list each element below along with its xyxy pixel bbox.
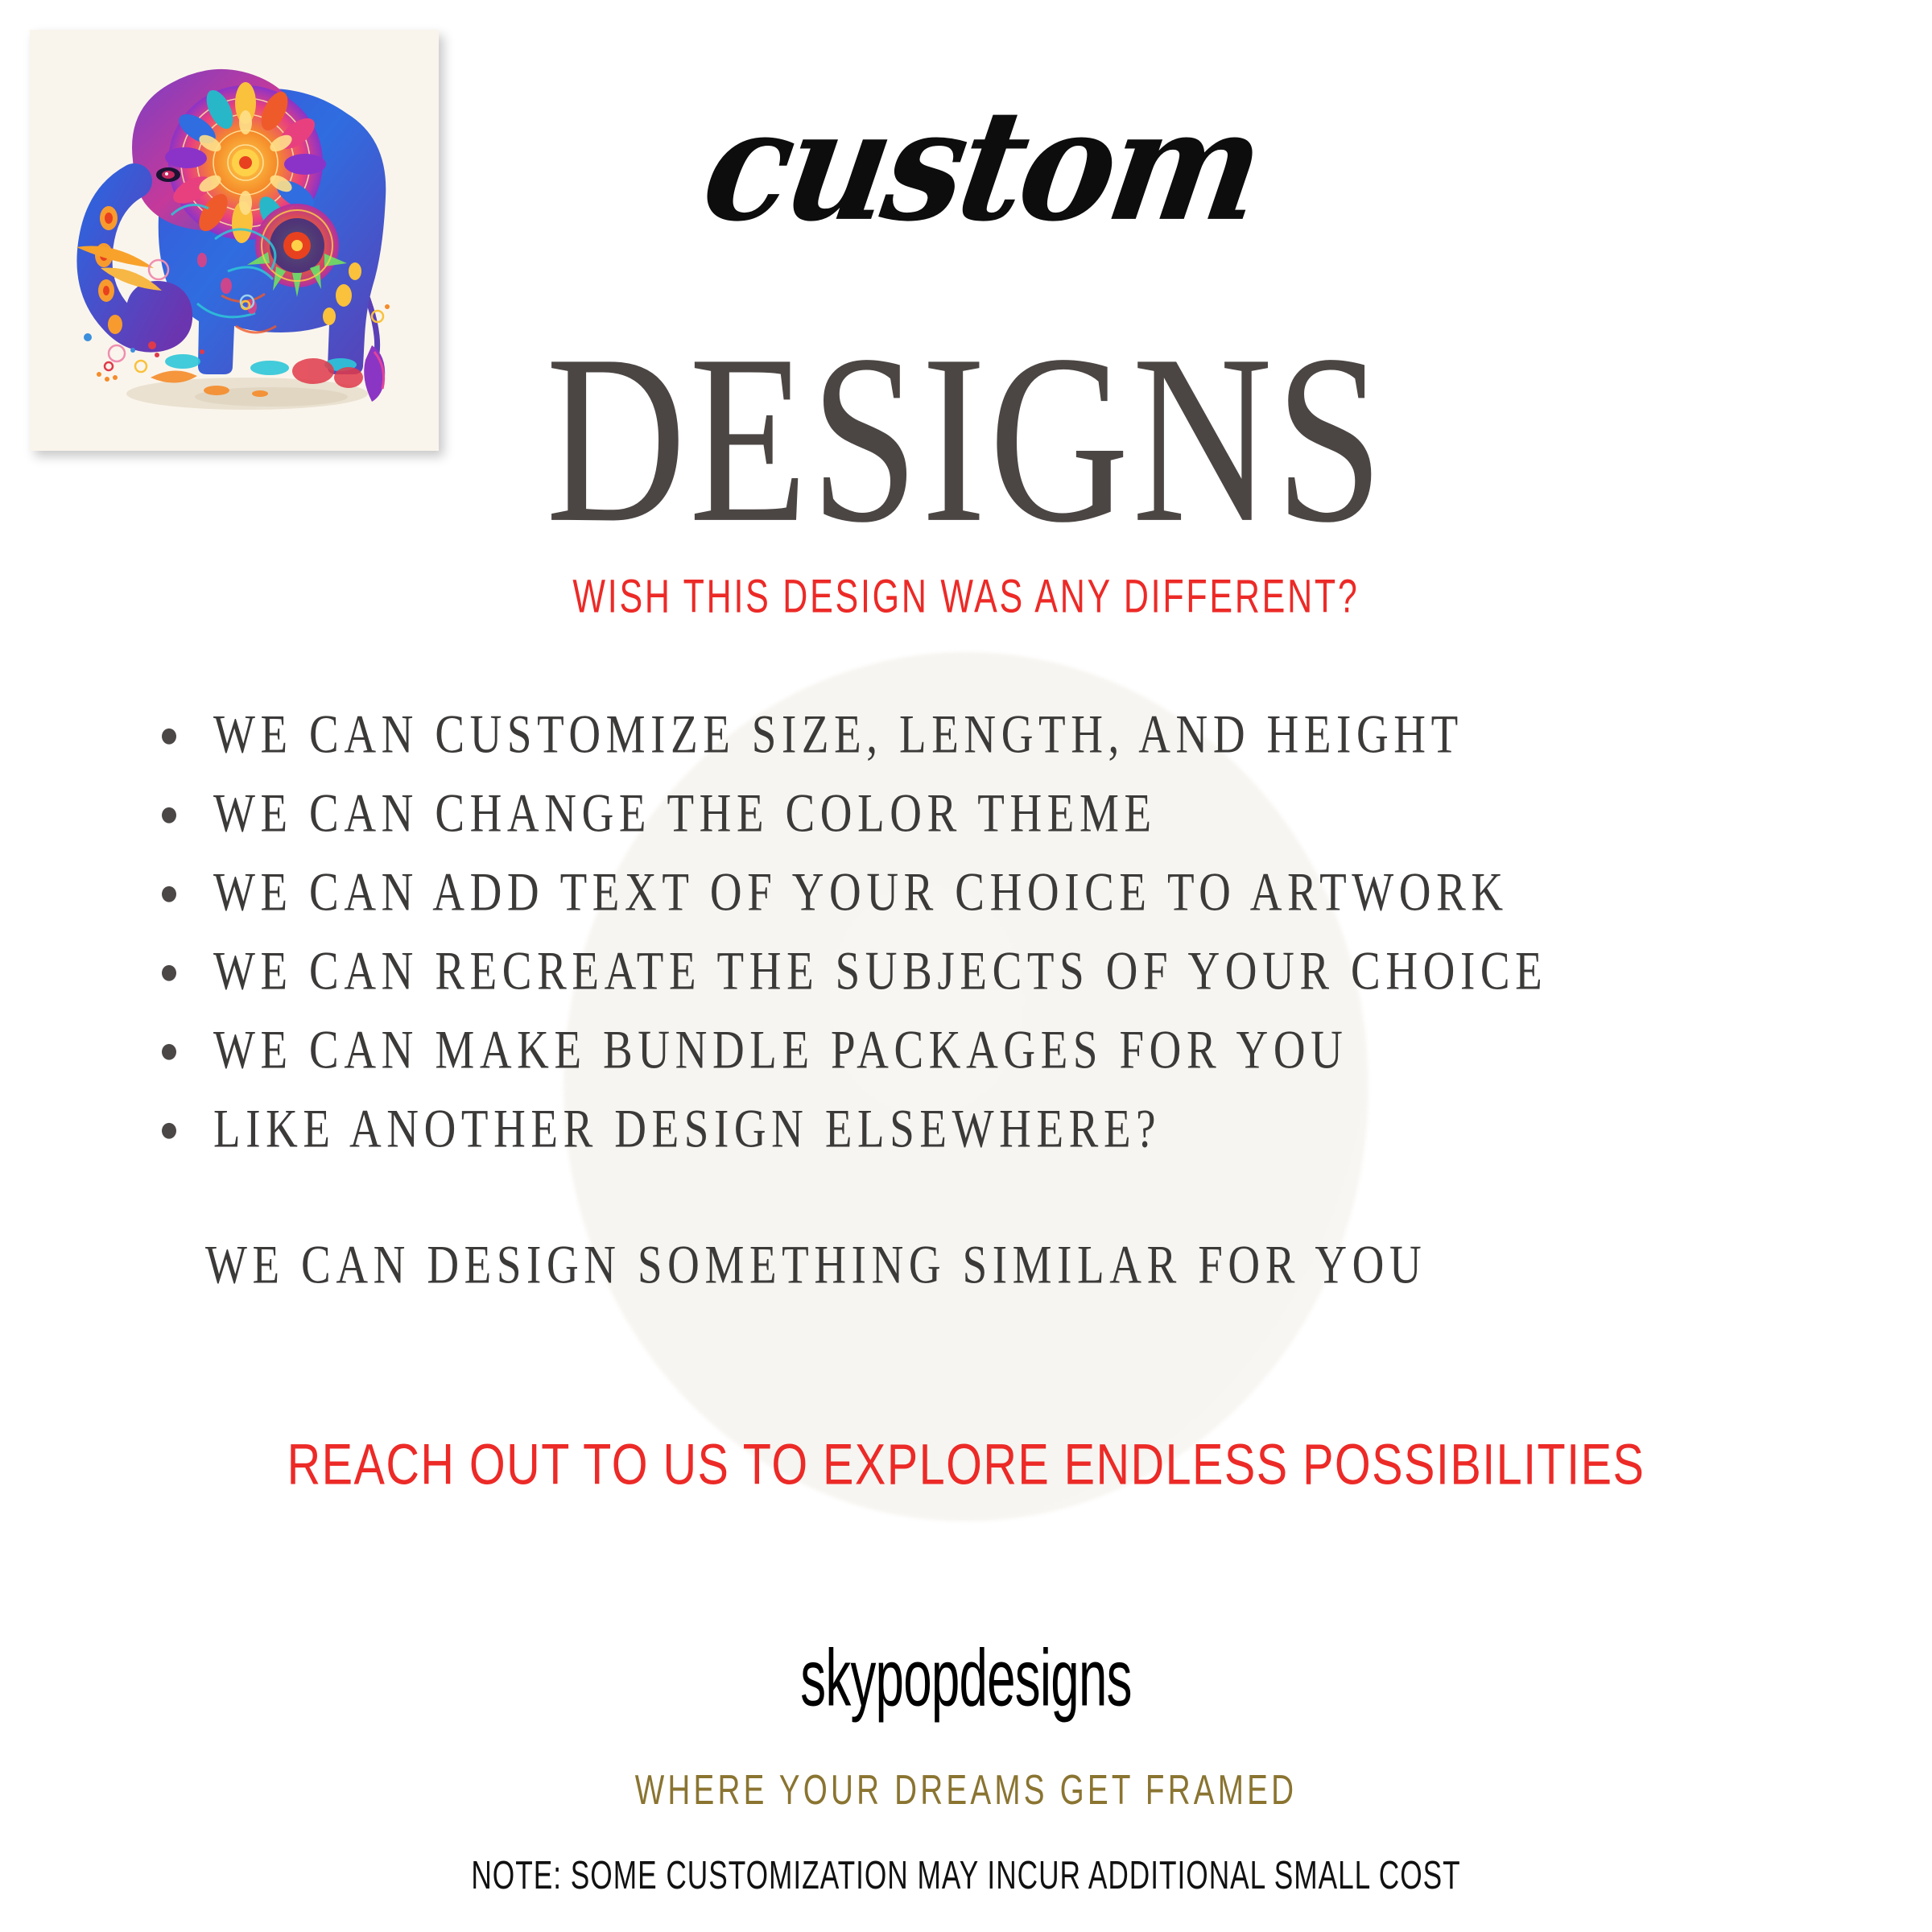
bullet-dot-icon (162, 1123, 176, 1139)
call-to-action-text: REACH OUT TO US TO EXPLORE ENDLESS POSSI… (97, 1431, 1835, 1498)
brand-tagline: WHERE YOUR DREAMS GET FRAMED (155, 1765, 1777, 1814)
list-item-label: WE CAN ADD TEXT OF YOUR CHOICE TO ARTWOR… (213, 861, 1509, 923)
list-item: WE CAN RECREATE THE SUBJECTS OF YOUR CHO… (157, 943, 1872, 1005)
list-item-label: WE CAN CUSTOMIZE SIZE, LENGTH, AND HEIGH… (213, 704, 1463, 765)
footer-note: NOTE: SOME CUSTOMIZATION MAY INCUR ADDIT… (174, 1854, 1758, 1899)
list-item-label: WE CAN MAKE BUNDLE PACKAGES FOR YOU (213, 1019, 1348, 1080)
script-heading-text: custom (663, 89, 1269, 242)
list-item: WE CAN CUSTOMIZE SIZE, LENGTH, AND HEIGH… (157, 707, 1872, 769)
list-item-label: WE CAN RECREATE THE SUBJECTS OF YOUR CHO… (213, 940, 1547, 1001)
page-title-designs: DESIGNS (97, 318, 1835, 559)
bullet-dot-icon (162, 807, 176, 824)
bullet-dot-icon (162, 729, 176, 745)
brand-wordmark: skypopdesigns (251, 1633, 1681, 1725)
list-item: WE CAN MAKE BUNDLE PACKAGES FOR YOU (157, 1022, 1872, 1084)
script-heading-custom: custom (0, 95, 1932, 237)
subtitle-question: WISH THIS DESIGN WAS ANY DIFFERENT? (135, 569, 1797, 623)
bullet-dot-icon (162, 886, 176, 902)
list-item: LIKE ANOTHER DESIGN ELSEWHERE? (157, 1101, 1872, 1163)
list-item-label: LIKE ANOTHER DESIGN ELSEWHERE? (213, 1098, 1161, 1159)
list-item: WE CAN CHANGE THE COLOR THEME (157, 786, 1872, 848)
bullet-dot-icon (162, 965, 176, 981)
list-item-continuation: WE CAN DESIGN SOMETHING SIMILAR FOR YOU (205, 1236, 1426, 1291)
bullet-dot-icon (162, 1044, 176, 1060)
list-item: WE CAN ADD TEXT OF YOUR CHOICE TO ARTWOR… (157, 865, 1872, 927)
list-item-label: WE CAN CHANGE THE COLOR THEME (213, 782, 1157, 844)
feature-list: WE CAN CUSTOMIZE SIZE, LENGTH, AND HEIGH… (157, 712, 1872, 1186)
